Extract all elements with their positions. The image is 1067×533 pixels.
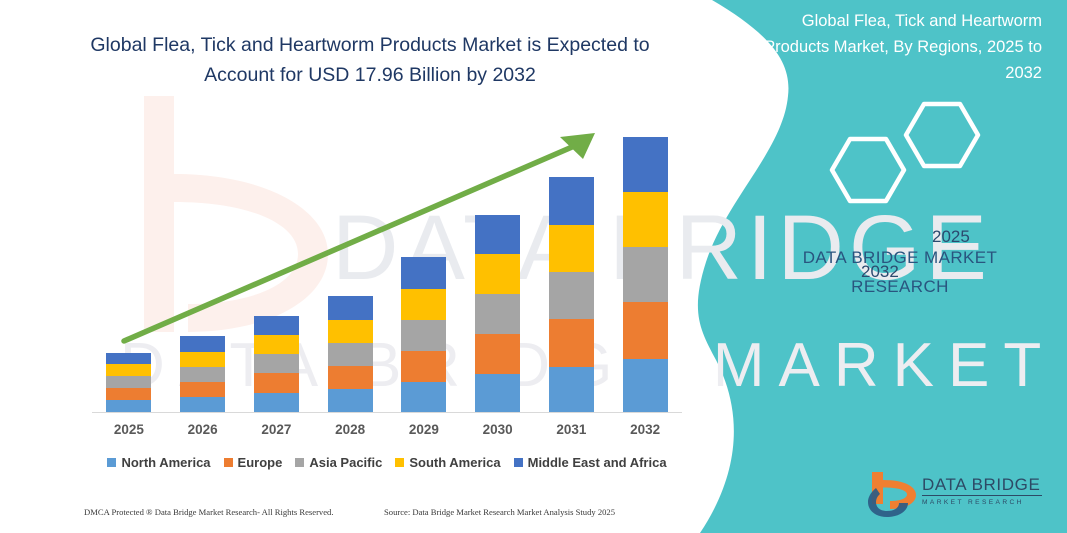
bar-segment: [549, 272, 594, 319]
bar-segment: [180, 382, 225, 397]
footer-copyright: DMCA Protected ® Data Bridge Market Rese…: [84, 507, 384, 517]
bar-segment: [401, 289, 446, 320]
stacked-bar: [106, 353, 151, 412]
chart-legend: North AmericaEuropeAsia PacificSouth Ame…: [92, 455, 682, 470]
x-axis-tick-2030: 2030: [463, 422, 533, 437]
legend-item[interactable]: Middle East and Africa: [514, 455, 667, 470]
bar-segment: [254, 393, 299, 412]
bar-segment: [623, 302, 668, 359]
x-axis-tick-2031: 2031: [536, 422, 606, 437]
legend-swatch-icon: [295, 458, 304, 467]
bar-segment: [328, 366, 373, 389]
legend-item[interactable]: South America: [395, 455, 500, 470]
bar-segment: [328, 296, 373, 320]
bar-group: [549, 177, 594, 412]
legend-item[interactable]: North America: [107, 455, 210, 470]
x-axis-tick-2029: 2029: [389, 422, 459, 437]
logo-wordmark: DATA BRIDGE MARKET RESEARCH: [922, 476, 1042, 507]
bar-segment: [106, 388, 151, 400]
bar-segment: [254, 335, 299, 354]
x-axis-tick-2028: 2028: [315, 422, 385, 437]
stacked-bar: [475, 215, 520, 412]
panel-title: Global Flea, Tick and Heartworm Products…: [742, 8, 1042, 86]
bar-segment: [401, 320, 446, 351]
chart-title: Global Flea, Tick and Heartworm Products…: [70, 30, 670, 90]
bar-segment: [549, 319, 594, 367]
bar-segment: [106, 376, 151, 388]
bar-segment: [549, 367, 594, 412]
bar-segment: [180, 352, 225, 367]
legend-swatch-icon: [107, 458, 116, 467]
bar-group: [254, 316, 299, 412]
bar-segment: [549, 177, 594, 225]
bar-segment: [475, 374, 520, 412]
legend-label: Asia Pacific: [309, 455, 382, 470]
bar-group: [180, 336, 225, 412]
bar-segment: [106, 400, 151, 412]
x-axis-tick-2026: 2026: [168, 422, 238, 437]
bar-segment: [180, 336, 225, 352]
bar-group: [401, 257, 446, 412]
bar-segment: [401, 382, 446, 412]
x-axis-tick-2027: 2027: [241, 422, 311, 437]
bar-segment: [254, 373, 299, 393]
legend-label: South America: [409, 455, 500, 470]
bar-segment: [475, 215, 520, 254]
infographic-canvas: DATA BRIDGE DATA BRIDGE MARKET RESEARCH …: [0, 0, 1067, 533]
legend-swatch-icon: [224, 458, 233, 467]
logo-wordmark-main: DATA BRIDGE: [922, 476, 1042, 496]
bar-segment: [328, 320, 373, 343]
panel-brand-line-1: DATA BRIDGE MARKET: [780, 243, 1020, 272]
bar-segment: [623, 137, 668, 192]
stacked-bar: [623, 137, 668, 412]
hexagon-2025-shape: [906, 104, 978, 166]
bar-segment: [623, 359, 668, 412]
bar-group: [623, 137, 668, 412]
bar-segment: [475, 334, 520, 374]
panel-brand-line-2: RESEARCH: [780, 272, 1020, 301]
bar-segment: [549, 225, 594, 272]
logo-mark-icon: [866, 470, 918, 518]
x-axis-labels: 20252026202720282029203020312032: [92, 422, 682, 444]
bar-segment: [106, 353, 151, 364]
x-axis-tick-2025: 2025: [94, 422, 164, 437]
bar-segment: [475, 294, 520, 334]
bar-group: [106, 353, 151, 412]
stacked-bar: [180, 336, 225, 412]
bar-segment: [328, 343, 373, 366]
stacked-bar: [549, 177, 594, 412]
panel-brand-name: DATA BRIDGE MARKET RESEARCH: [780, 243, 1020, 301]
bar-segment: [180, 397, 225, 412]
legend-swatch-icon: [395, 458, 404, 467]
bar-segment: [254, 316, 299, 335]
legend-label: North America: [121, 455, 210, 470]
bar-segment: [254, 354, 299, 373]
bar-segment: [623, 247, 668, 302]
legend-item[interactable]: Asia Pacific: [295, 455, 382, 470]
legend-swatch-icon: [514, 458, 523, 467]
bar-segment: [106, 364, 151, 376]
legend-label: Middle East and Africa: [528, 455, 667, 470]
x-axis-line: [92, 412, 682, 413]
bar-group: [475, 215, 520, 412]
x-axis-tick-2032: 2032: [610, 422, 680, 437]
stacked-bar: [254, 316, 299, 412]
data-bridge-logo: DATA BRIDGE MARKET RESEARCH: [866, 470, 1041, 518]
bar-segment: [180, 367, 225, 382]
bar-group: [328, 296, 373, 412]
legend-item[interactable]: Europe: [224, 455, 283, 470]
stacked-bar: [328, 296, 373, 412]
bar-segment: [475, 254, 520, 294]
logo-wordmark-sub: MARKET RESEARCH: [922, 498, 1042, 507]
footer-source: Source: Data Bridge Market Research Mark…: [384, 507, 684, 517]
chart-plot-area: [92, 120, 682, 413]
bar-segment: [328, 389, 373, 412]
bar-segment: [623, 192, 668, 247]
hexagon-badges: 2025 2032: [820, 100, 1020, 215]
footer: DMCA Protected ® Data Bridge Market Rese…: [84, 507, 684, 517]
legend-label: Europe: [238, 455, 283, 470]
bar-segment: [401, 351, 446, 382]
bar-segment: [401, 257, 446, 289]
stacked-bar: [401, 257, 446, 412]
hexagon-2032-shape: [832, 139, 904, 201]
